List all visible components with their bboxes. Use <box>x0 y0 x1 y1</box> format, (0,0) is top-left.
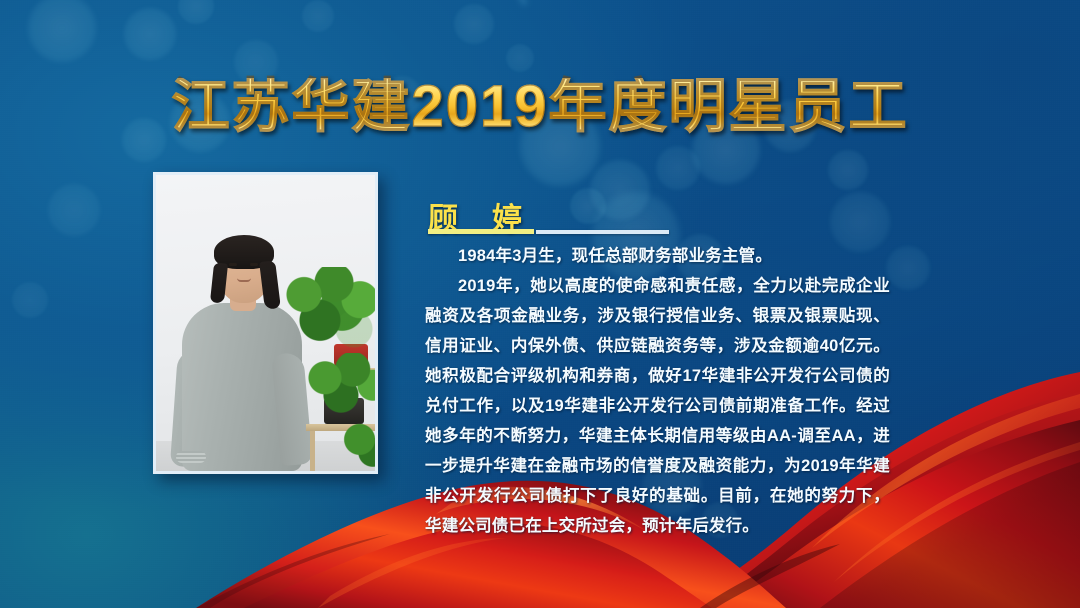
employee-photo <box>153 172 378 474</box>
name-underline-yellow <box>428 229 534 234</box>
description-paragraph: 2019年，她以高度的使命感和责任感，全力以赴完成企业融资及各项金融业务，涉及银… <box>425 271 890 541</box>
employee-description: 1984年3月生，现任总部财务部业务主管。2019年，她以高度的使命感和责任感，… <box>425 241 890 541</box>
name-underline-white <box>536 230 669 234</box>
page-title: 江苏华建2019年度明星员工 <box>0 78 1080 136</box>
description-paragraph: 1984年3月生，现任总部财务部业务主管。 <box>425 241 890 271</box>
award-slide: 江苏华建2019年度明星员工 <box>0 0 1080 608</box>
